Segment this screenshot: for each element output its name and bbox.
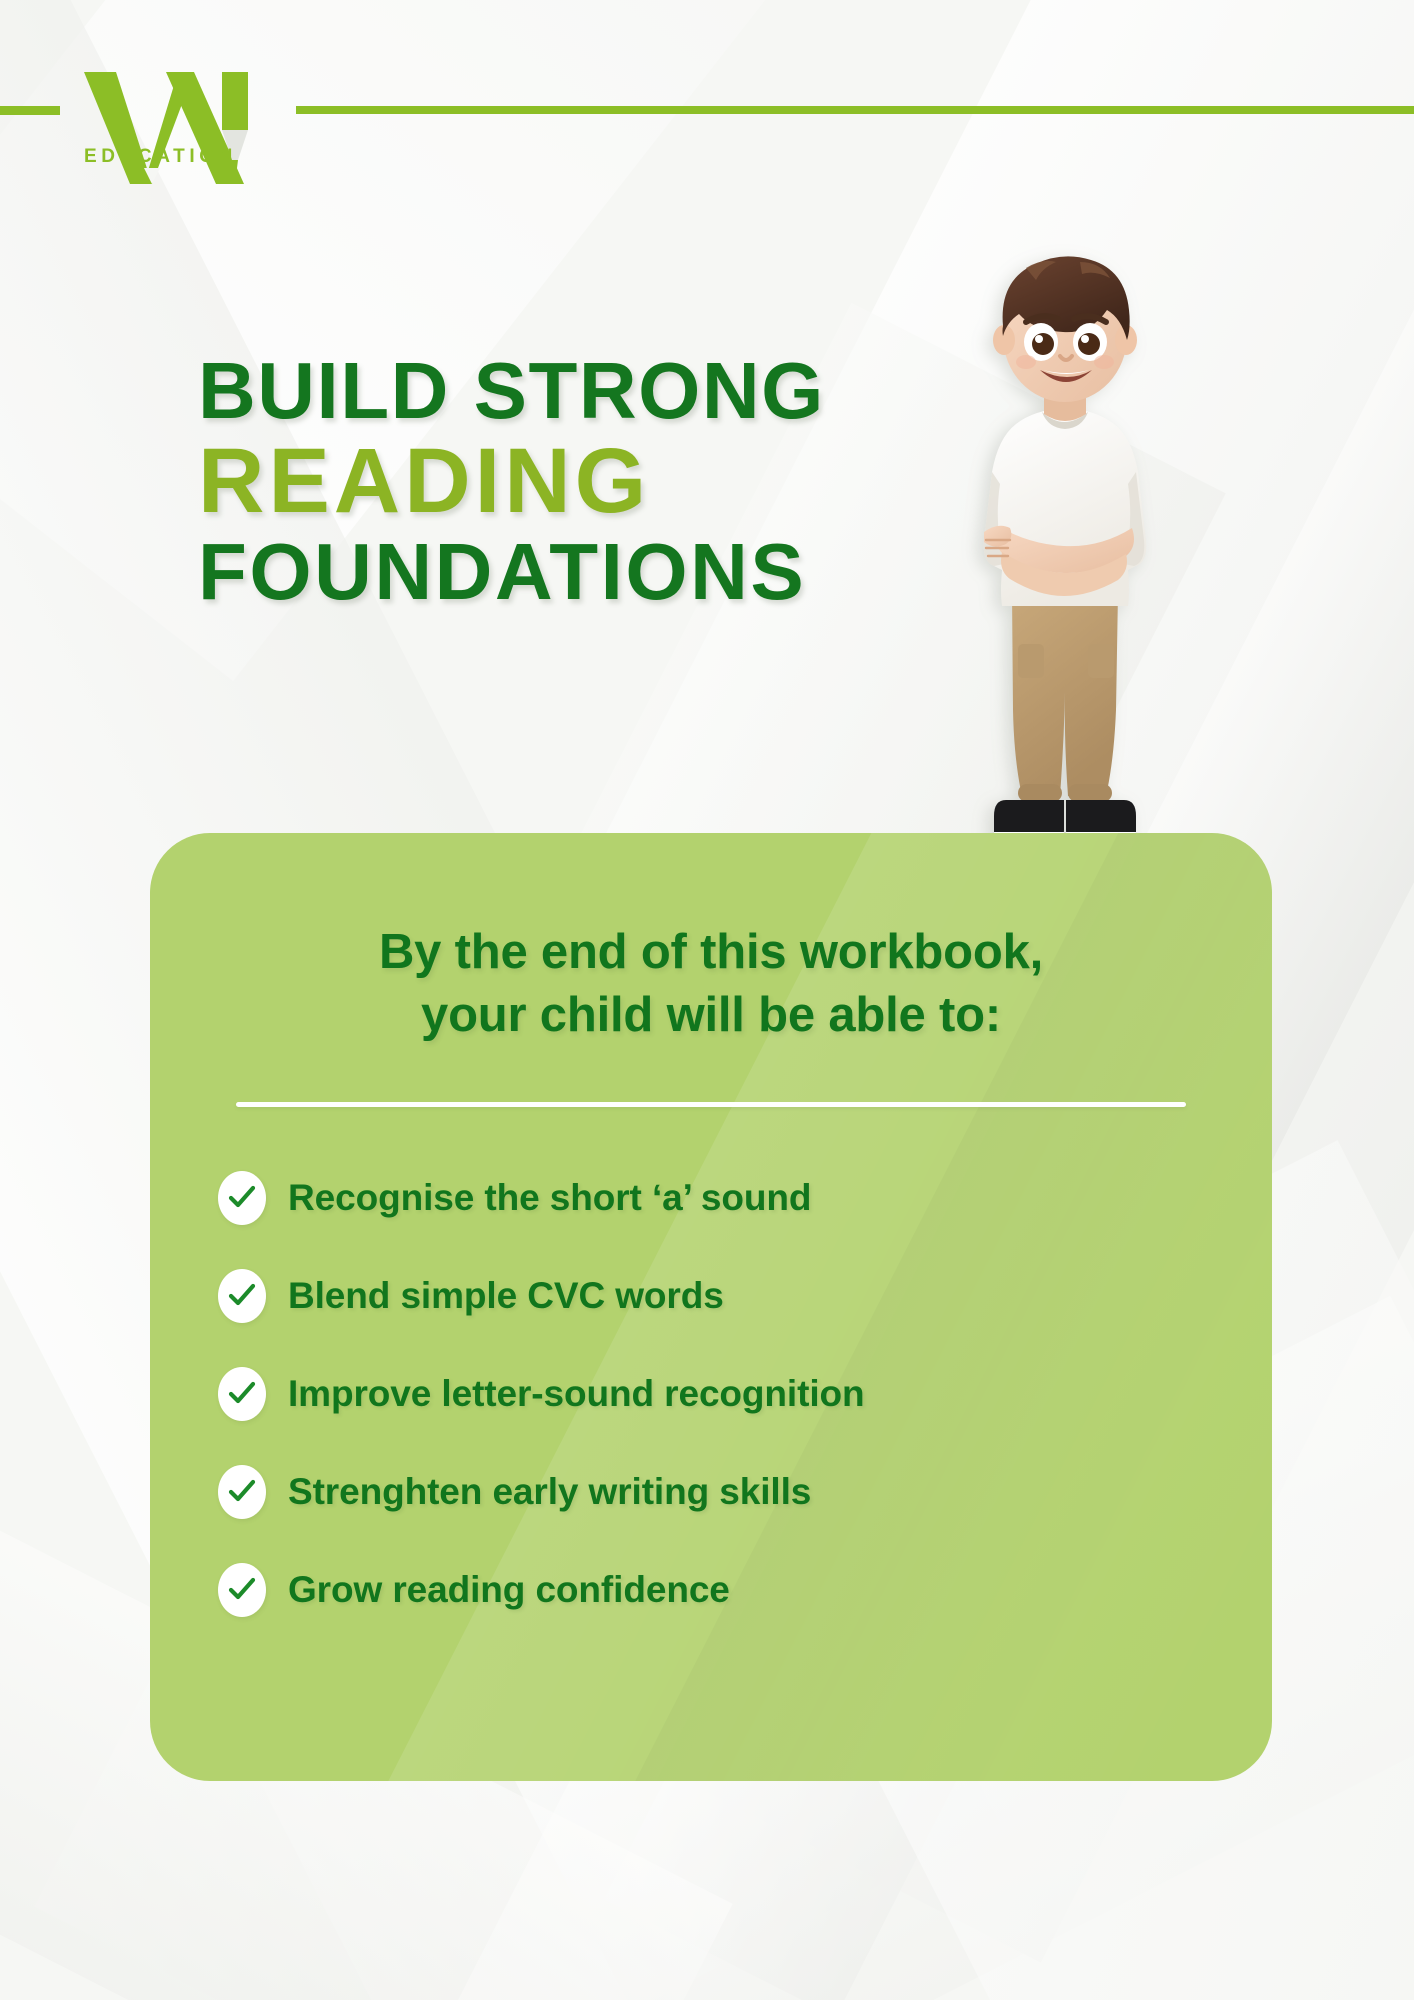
- card-divider: [236, 1102, 1186, 1107]
- boy-character-illustration: [940, 240, 1190, 870]
- card-title: By the end of this workbook, your child …: [150, 921, 1272, 1046]
- list-item-label: Recognise the short ‘a’ sound: [288, 1177, 811, 1219]
- list-item: Strenghten early writing skills: [218, 1465, 1272, 1519]
- card-title-line-1: By the end of this workbook,: [150, 921, 1272, 984]
- check-icon: [218, 1269, 266, 1323]
- header: EDUCATION: [0, 0, 1414, 220]
- list-item: Grow reading confidence: [218, 1563, 1272, 1617]
- outcomes-list: Recognise the short ‘a’ sound Blend simp…: [218, 1171, 1272, 1617]
- page-title: BUILD STRONG READING FOUNDATIONS: [198, 352, 825, 611]
- headline-line-1: BUILD STRONG: [198, 352, 825, 430]
- check-icon: [218, 1171, 266, 1225]
- list-item-label: Strenghten early writing skills: [288, 1471, 811, 1513]
- list-item: Blend simple CVC words: [218, 1269, 1272, 1323]
- card-title-line-2: your child will be able to:: [150, 984, 1272, 1047]
- header-rule: [296, 106, 1414, 114]
- list-item-label: Grow reading confidence: [288, 1569, 730, 1611]
- list-item-label: Blend simple CVC words: [288, 1275, 724, 1317]
- check-icon: [218, 1367, 266, 1421]
- left-dash-accent: [0, 106, 60, 115]
- list-item-label: Improve letter-sound recognition: [288, 1373, 865, 1415]
- headline-line-2: READING: [198, 436, 825, 526]
- check-icon: [218, 1563, 266, 1617]
- outcomes-card: By the end of this workbook, your child …: [150, 833, 1272, 1781]
- check-icon: [218, 1465, 266, 1519]
- list-item: Recognise the short ‘a’ sound: [218, 1171, 1272, 1225]
- vn-logo-icon: [82, 68, 262, 188]
- list-item: Improve letter-sound recognition: [218, 1367, 1272, 1421]
- logo-wordmark: EDUCATION: [84, 146, 237, 168]
- headline-line-3: FOUNDATIONS: [198, 533, 825, 611]
